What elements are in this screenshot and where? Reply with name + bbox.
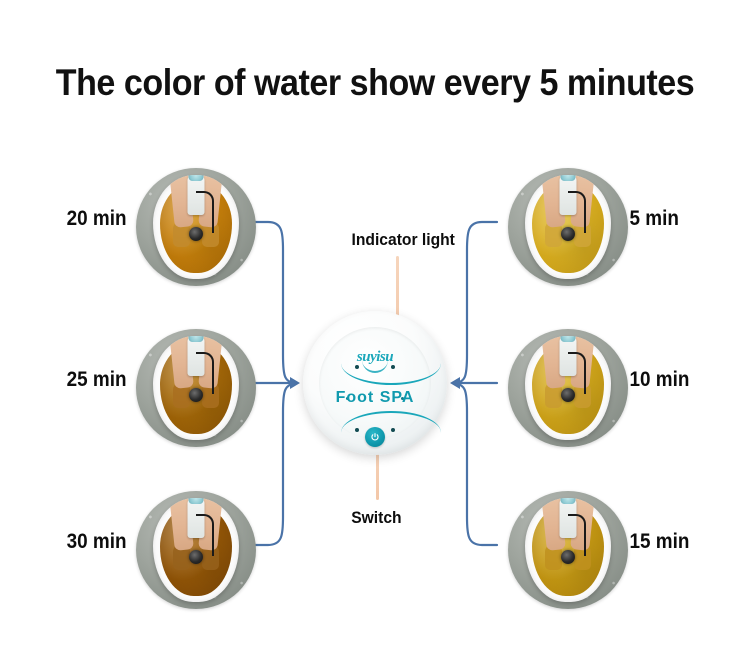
indicator-light-top-left [355,365,359,369]
foot-spa-photo-20-min [128,166,264,288]
electrode-module-cap [561,175,576,181]
callout-label-switch: Switch [351,508,401,528]
electrode-module-cap [189,336,204,342]
indicator-light-bottom-right [391,428,395,432]
device-face-panel: suyisu Foot SPA [319,327,431,439]
spa-basin [525,498,611,602]
power-button[interactable] [365,427,385,447]
electrode-module-cap [561,498,576,504]
indicator-light-top-right [391,365,395,369]
time-label-25-min: 25 min [28,368,127,392]
time-label-15-min: 15 min [630,530,729,554]
time-label-30-min: 30 min [28,530,127,554]
spa-basin [525,175,611,279]
power-icon [371,433,380,442]
foot-spa-photo-15-min [500,489,636,611]
foot-spa-control-device: suyisu Foot SPA [303,311,447,455]
electrode-module-cap [189,498,204,504]
electrode-array [561,388,575,402]
spa-basin [525,336,611,440]
time-label-5-min: 5 min [630,207,729,231]
foot-spa-photo-30-min [128,489,264,611]
spa-basin [153,175,239,279]
foot-spa-photo-5-min [500,166,636,288]
foot-spa-photo-10-min [500,327,636,449]
device-product-label: Foot SPA [319,389,431,407]
time-label-10-min: 10 min [630,368,729,392]
callout-label-indicator-light: Indicator light [351,230,454,250]
electrode-array [189,388,203,402]
spa-basin [153,336,239,440]
electrode-array [189,550,203,564]
electrode-array [561,550,575,564]
page-title: The color of water show every 5 minutes [30,62,720,104]
indicator-light-bottom-left [355,428,359,432]
electrode-module-cap [561,336,576,342]
electrode-array [561,227,575,241]
spa-basin [153,498,239,602]
electrode-module-cap [189,175,204,181]
time-label-20-min: 20 min [28,207,127,231]
foot-spa-photo-25-min [128,327,264,449]
electrode-array [189,227,203,241]
